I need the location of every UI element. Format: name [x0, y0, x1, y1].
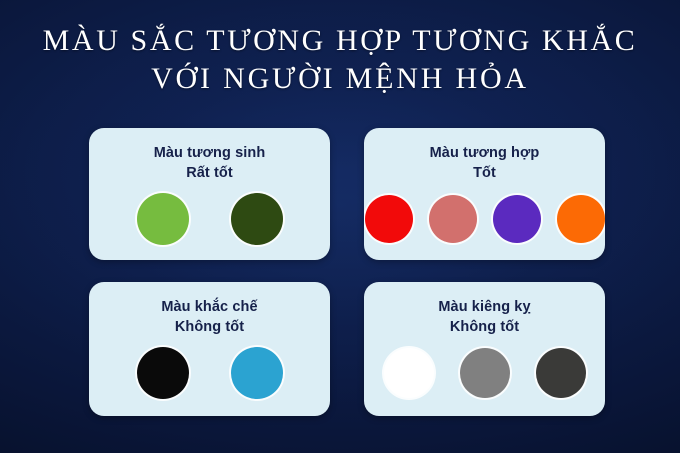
- swatch-light-green: [137, 193, 189, 245]
- swatch-dark-charcoal: [536, 348, 586, 398]
- swatch-dark-olive-green: [231, 193, 283, 245]
- card-khac-che-subtitle: Không tốt: [161, 317, 257, 337]
- color-category-grid: Màu tương sinh Rất tốt Màu tương hợp Tốt: [89, 128, 605, 416]
- swatch-purple: [493, 195, 541, 243]
- swatch-black: [137, 347, 189, 399]
- title-line-2: VỚI NGƯỜI MỆNH HỎA: [0, 60, 680, 98]
- card-tuong-sinh-subtitle: Rất tốt: [154, 163, 266, 183]
- title-line-1: MÀU SẮC TƯƠNG HỢP TƯƠNG KHẮC: [0, 22, 680, 60]
- swatch-salmon-rose: [429, 195, 477, 243]
- swatch-gray: [460, 348, 510, 398]
- card-kieng-ky: Màu kiêng kỵ Không tốt: [364, 282, 605, 416]
- swatch-red: [365, 195, 413, 243]
- card-kieng-ky-swatches: [364, 337, 605, 416]
- card-tuong-sinh-title: Màu tương sinh: [154, 145, 266, 161]
- swatch-white: [384, 348, 434, 398]
- swatch-cyan-blue: [231, 347, 283, 399]
- card-tuong-hop: Màu tương hợp Tốt: [364, 128, 605, 260]
- infographic-canvas: MÀU SẮC TƯƠNG HỢP TƯƠNG KHẮC VỚI NGƯỜI M…: [0, 0, 680, 453]
- card-tuong-sinh: Màu tương sinh Rất tốt: [89, 128, 330, 260]
- card-kieng-ky-heading: Màu kiêng kỵ Không tốt: [438, 297, 530, 337]
- swatch-orange: [557, 195, 605, 243]
- card-khac-che-swatches: [89, 337, 330, 416]
- page-title: MÀU SẮC TƯƠNG HỢP TƯƠNG KHẮC VỚI NGƯỜI M…: [0, 22, 680, 98]
- card-tuong-sinh-swatches: [89, 183, 330, 260]
- card-tuong-hop-title: Màu tương hợp: [430, 145, 540, 161]
- card-tuong-hop-swatches: [364, 183, 605, 260]
- card-tuong-sinh-heading: Màu tương sinh Rất tốt: [154, 143, 266, 183]
- card-khac-che: Màu khắc chế Không tốt: [89, 282, 330, 416]
- card-tuong-hop-heading: Màu tương hợp Tốt: [430, 143, 540, 183]
- card-khac-che-title: Màu khắc chế: [161, 299, 257, 315]
- card-kieng-ky-title: Màu kiêng kỵ: [438, 299, 530, 315]
- card-tuong-hop-subtitle: Tốt: [430, 163, 540, 183]
- card-khac-che-heading: Màu khắc chế Không tốt: [161, 297, 257, 337]
- card-kieng-ky-subtitle: Không tốt: [438, 317, 530, 337]
